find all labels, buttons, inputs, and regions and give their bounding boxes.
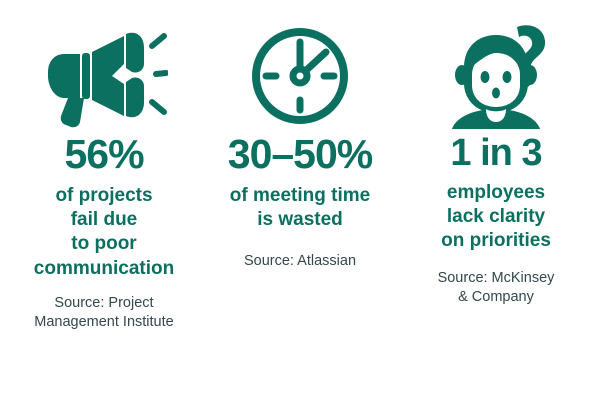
- stat-column-communication: 56% of projects fail due to poor communi…: [6, 22, 202, 332]
- stat-column-meetings: 30–50% of meeting time is wasted Source:…: [202, 22, 398, 271]
- headline-clarity: 1 in 3: [450, 134, 541, 173]
- subhead-communication: of projects fail due to poor communicati…: [34, 184, 174, 281]
- source-clarity: Source: McKinsey & Company: [438, 269, 555, 307]
- subhead-clarity: employees lack clarity on priorities: [441, 181, 551, 254]
- clock-icon: [248, 22, 352, 130]
- broken-megaphone-icon: [40, 22, 168, 130]
- infographic-container: 56% of projects fail due to poor communi…: [0, 0, 600, 400]
- headline-meetings: 30–50%: [228, 134, 372, 176]
- stat-column-clarity: 1 in 3 employees lack clarity on priorit…: [398, 22, 594, 306]
- source-meetings: Source: Atlassian: [244, 252, 356, 271]
- source-communication: Source: Project Management Institute: [34, 294, 173, 332]
- headline-communication: 56%: [64, 134, 143, 176]
- confused-person-icon: [444, 22, 548, 130]
- subhead-meetings: of meeting time is wasted: [230, 184, 370, 233]
